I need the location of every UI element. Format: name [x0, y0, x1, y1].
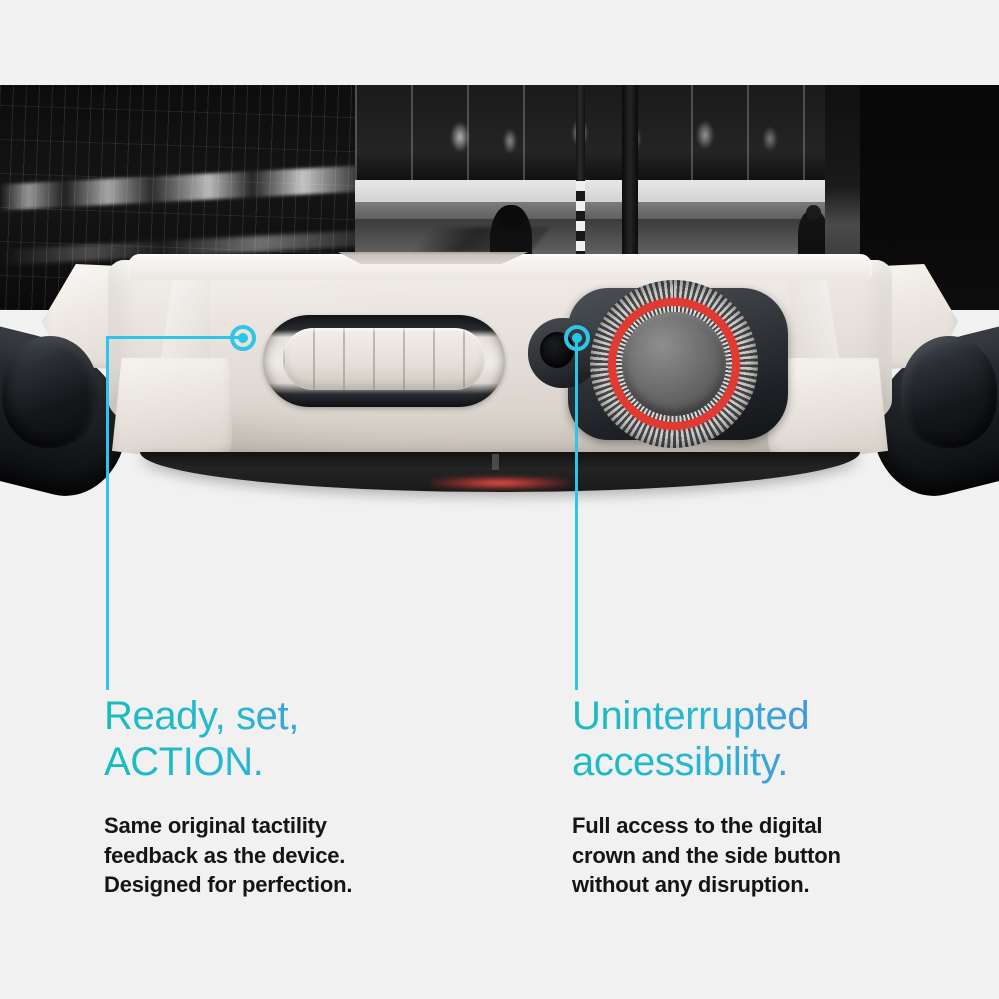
wall-grey-band	[355, 202, 825, 220]
watch-product-photo	[0, 240, 999, 540]
band-tip-left	[2, 336, 98, 448]
feature-block-side-button: Ready, set, ACTION. Same original tactil…	[104, 694, 504, 900]
case-rim-seam	[492, 454, 499, 470]
feature-headline-left: Ready, set, ACTION.	[104, 694, 504, 785]
feature-headline-right: Uninterrupted accessibility.	[572, 694, 972, 785]
wall-white-band	[355, 180, 825, 202]
side-button-ribbed-face[interactable]	[283, 328, 485, 390]
case-top-notch	[338, 252, 528, 264]
callout-line-digital-crown	[575, 338, 578, 690]
feature-block-digital-crown: Uninterrupted accessibility. Full access…	[572, 694, 972, 900]
callout-marker-digital-crown[interactable]	[564, 325, 590, 351]
pedestrian-walking-head	[806, 205, 821, 220]
heart-sensor-glow	[430, 476, 570, 490]
feature-body-left: Same original tactility feedback as the …	[104, 811, 504, 899]
feature-body-right: Full access to the digital crown and the…	[572, 811, 972, 899]
callout-line-side-button-horizontal	[106, 336, 242, 339]
band-tip-right	[901, 336, 997, 448]
case-lug-left	[112, 358, 232, 466]
crown-center-cap	[622, 312, 726, 416]
callout-line-side-button-vertical	[106, 336, 109, 690]
product-feature-graphic: Ready, set, ACTION. Same original tactil…	[0, 0, 999, 999]
callout-marker-side-button[interactable]	[230, 325, 256, 351]
